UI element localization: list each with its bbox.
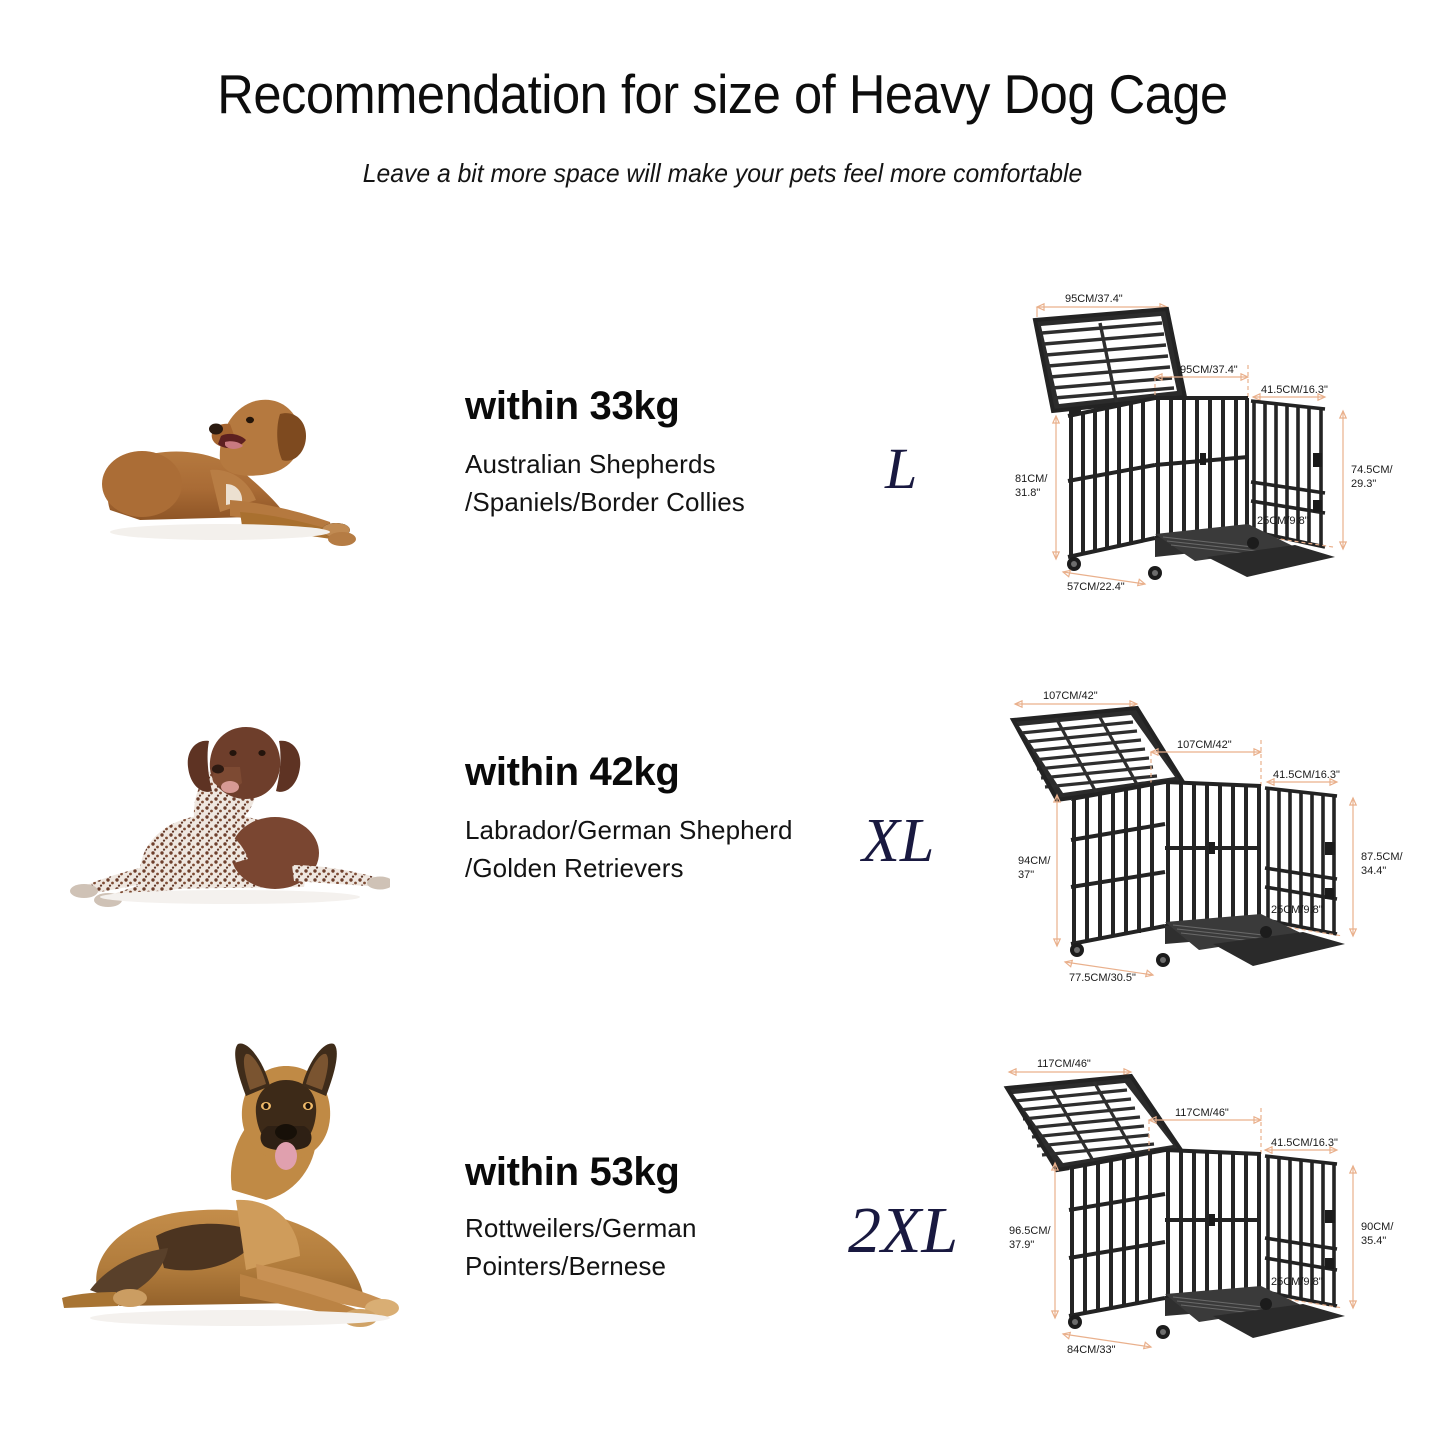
cage-lid-l [1035,309,1185,411]
svg-text:35.4": 35.4" [1361,1235,1386,1247]
svg-text:29.3": 29.3" [1351,478,1376,490]
size-code-l: L [885,440,917,498]
svg-text:107CM/42": 107CM/42" [1177,739,1232,751]
svg-text:41.5CM/16.3": 41.5CM/16.3" [1273,769,1340,781]
dim-base-width-l: 57CM/22.4" [1063,570,1145,593]
weight-label-2xl: within 53kg [465,1150,865,1194]
svg-text:25CM/9.8": 25CM/9.8" [1271,904,1323,916]
cage-diagram-2xl: 117CM/46" [985,1050,1415,1360]
svg-text:117CM/46": 117CM/46" [1037,1058,1091,1070]
breed-line-1: Labrador/German Shepherd [465,812,885,850]
dim-base-width-xl: 77.5CM/30.5" [1065,960,1153,984]
size-row-xl: within 42kg Labrador/German Shepherd /Go… [0,672,1445,1032]
svg-text:25CM/9.8": 25CM/9.8" [1257,515,1309,527]
german-shorthaired-pointer-lying-icon [70,707,390,907]
breed-line-2: Pointers/Bernese [465,1248,865,1286]
svg-text:84CM/33": 84CM/33" [1067,1344,1116,1356]
size-code-2xl: 2XL [848,1198,958,1264]
cage-diagram-xl: 107CM/42" [985,682,1415,992]
dim-door-width-xl: 41.5CM/16.3" [1267,769,1340,785]
dim-height-left-xl: 94CM/ 37" [1018,795,1060,946]
german-shepherd-lying-icon [60,1040,430,1330]
dim-base-width-2xl: 84CM/33" [1063,1332,1151,1356]
svg-text:96.5CM/: 96.5CM/ [1009,1225,1052,1237]
size-text-cell-2xl: within 53kg Rottweilers/German Pointers/… [465,1150,865,1285]
breed-list-xl: Labrador/German Shepherd /Golden Retriev… [465,794,885,887]
breed-list-2xl: Rottweilers/German Pointers/Bernese [465,1194,865,1285]
svg-text:41.5CM/16.3": 41.5CM/16.3" [1271,1137,1338,1149]
dog-photo-cell-xl [60,672,440,1012]
page-title: Recommendation for size of Heavy Dog Cag… [58,0,1387,126]
svg-text:34.4": 34.4" [1361,865,1386,877]
infographic-page: Recommendation for size of Heavy Dog Cag… [0,0,1445,1445]
dim-height-left-2xl: 96.5CM/ 37.9" [1009,1163,1058,1318]
size-text-cell-xl: within 42kg Labrador/German Shepherd /Go… [465,750,885,887]
cage-diagram-l: 95CM/37.4" [995,285,1415,605]
svg-text:31.8": 31.8" [1015,487,1040,499]
dim-door-width-l: 41.5CM/16.3" [1253,384,1328,400]
size-row-l: within 33kg Australian Shepherds /Spanie… [0,300,1445,660]
weight-label-xl: within 42kg [465,750,885,794]
size-code-xl: XL [862,810,934,872]
svg-text:95CM/37.4": 95CM/37.4" [1065,293,1123,305]
svg-text:74.5CM/: 74.5CM/ [1351,464,1394,476]
dog-photo-cell-l [60,300,440,640]
weight-label-l: within 33kg [465,384,865,428]
svg-text:77.5CM/30.5": 77.5CM/30.5" [1069,972,1136,984]
svg-text:25CM/9.8": 25CM/9.8" [1271,1276,1323,1288]
size-row-2xl: within 53kg Rottweilers/German Pointers/… [0,1030,1445,1390]
size-text-cell-l: within 33kg Australian Shepherds /Spanie… [465,384,865,521]
dog-photo-cell-2xl [60,1030,440,1370]
svg-text:57CM/22.4": 57CM/22.4" [1067,581,1125,593]
svg-text:94CM/: 94CM/ [1018,855,1051,867]
breed-list-l: Australian Shepherds /Spaniels/Border Co… [465,428,865,521]
svg-text:107CM/42": 107CM/42" [1043,690,1098,702]
svg-text:87.5CM/: 87.5CM/ [1361,851,1404,863]
dim-height-left-l: 81CM/ 31.8" [1015,416,1059,559]
dim-door-height-2xl: 90CM/ 35.4" [1350,1166,1395,1308]
svg-text:41.5CM/16.3": 41.5CM/16.3" [1261,384,1328,396]
svg-text:117CM/46": 117CM/46" [1175,1107,1229,1119]
page-subtitle: Leave a bit more space will make your pe… [36,126,1409,189]
svg-text:90CM/: 90CM/ [1361,1221,1394,1233]
svg-text:95CM/37.4": 95CM/37.4" [1180,364,1238,376]
dim-door-height-xl: 87.5CM/ 34.4" [1350,798,1404,936]
breed-line-1: Australian Shepherds [465,446,865,484]
breed-line-2: /Spaniels/Border Collies [465,484,865,522]
dim-lid-width-2xl: 117CM/46" [1009,1058,1131,1075]
brown-dog-lying-icon [80,360,380,560]
svg-text:37": 37" [1018,869,1034,881]
header: Recommendation for size of Heavy Dog Cag… [0,0,1445,189]
breed-line-2: /Golden Retrievers [465,850,885,888]
svg-text:37.9": 37.9" [1009,1239,1034,1251]
dim-door-height-l: 74.5CM/ 29.3" [1340,411,1394,549]
dim-lid-width-xl: 107CM/42" [1015,690,1137,707]
svg-text:81CM/: 81CM/ [1015,473,1048,485]
dim-door-width-2xl: 41.5CM/16.3" [1265,1137,1338,1153]
breed-line-1: Rottweilers/German [465,1210,865,1248]
